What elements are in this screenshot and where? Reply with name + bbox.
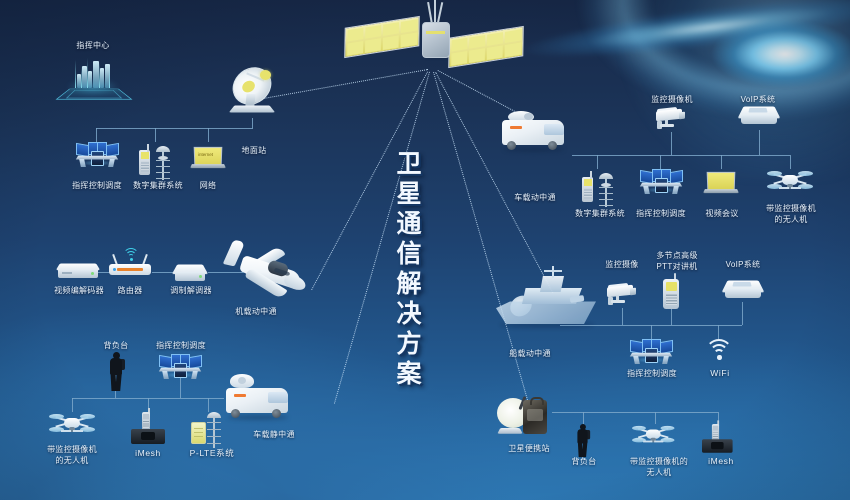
laptop-internet-icon: internet — [191, 147, 225, 172]
item-label: 监控摄像机 — [640, 94, 704, 105]
item-label: 数字集群系统 — [565, 208, 635, 219]
command-console-icon — [159, 354, 201, 380]
command-center-icon — [62, 52, 124, 104]
command-center-label: 指挥中心 — [58, 40, 128, 51]
camera-drone-icon — [768, 169, 812, 195]
hub-label: 车载动中通 — [505, 192, 565, 203]
connector — [552, 412, 718, 413]
ground-station-icon — [228, 68, 280, 118]
item-label: 视频会议 — [694, 208, 750, 219]
connector — [155, 128, 156, 142]
video-codec-icon — [58, 262, 98, 282]
ptt-radio-icon — [663, 275, 679, 309]
title-char-3: 通 — [396, 210, 421, 237]
title-char-1: 卫 — [396, 150, 421, 177]
digital-trunking-icon — [582, 169, 616, 207]
connector — [208, 128, 209, 142]
camera-drone-icon — [50, 412, 94, 438]
hub-label: 船载动中通 — [500, 348, 560, 359]
title-char-6: 决 — [396, 300, 421, 327]
connector — [208, 272, 244, 273]
connector — [660, 155, 661, 169]
hub-label: 机载动中通 — [226, 306, 286, 317]
video-conference-laptop-icon — [704, 172, 738, 197]
voip-box-icon — [724, 278, 762, 304]
item-label: 背负台 — [94, 340, 138, 351]
item-label: 路由器 — [105, 285, 155, 296]
item-label: 指挥控制调度 — [146, 340, 216, 351]
item-label: P-LTE系统 — [181, 448, 243, 459]
satellite-icon — [340, 0, 530, 80]
ground-station-label: 地面站 — [224, 145, 284, 156]
page-title: 卫 星 通 信 解 决 方 案 — [386, 150, 432, 387]
connector — [96, 128, 253, 129]
laptop-screen-text: internet — [198, 152, 213, 157]
connector — [597, 155, 598, 169]
item-label: 指挥控制调度 — [626, 208, 696, 219]
connector — [742, 302, 743, 325]
connector — [655, 412, 656, 424]
naval-ship-icon — [496, 270, 604, 332]
business-jet-icon — [222, 238, 318, 312]
command-console-icon — [640, 169, 682, 195]
item-label: 指挥控制调度 — [617, 368, 687, 379]
connector — [718, 325, 719, 339]
item-label: 网络 — [183, 180, 233, 191]
title-char-5: 解 — [396, 270, 421, 297]
connector — [721, 155, 722, 169]
modem-icon — [173, 262, 207, 286]
connector — [790, 155, 791, 169]
solar-panel-right — [448, 26, 524, 68]
command-console-icon — [630, 339, 672, 365]
item-label: 背负台 — [562, 456, 606, 467]
communication-van-icon — [498, 110, 572, 156]
digital-trunking-icon — [139, 142, 173, 180]
surveillance-camera-icon — [654, 108, 688, 132]
satellite-body — [422, 22, 450, 58]
imesh-device-icon — [702, 424, 736, 458]
item-label: WiFi — [700, 368, 740, 379]
connector — [252, 118, 253, 128]
static-communication-van-icon — [222, 378, 296, 424]
title-char-4: 信 — [396, 240, 421, 267]
connector — [583, 412, 584, 424]
connector — [759, 130, 760, 155]
wifi-icon — [706, 339, 732, 361]
camera-drone-icon — [633, 424, 677, 450]
item-label: iMesh — [126, 448, 170, 459]
item-label: 多节点高级 PTT对讲机 — [641, 250, 713, 272]
item-label: 带监控摄像机的 无人机 — [620, 456, 698, 478]
item-label: 视频编解码器 — [44, 285, 114, 296]
connector — [651, 325, 652, 339]
connector — [572, 155, 790, 156]
connector — [96, 128, 97, 142]
surveillance-camera-icon — [605, 284, 639, 308]
connector — [671, 132, 672, 155]
backpack-person-icon — [106, 352, 126, 392]
connector — [72, 398, 73, 412]
title-char-8: 案 — [396, 360, 421, 387]
hub-label: 卫星便携站 — [496, 443, 562, 454]
item-label: 指挥控制调度 — [62, 180, 132, 191]
infographic-canvas: 卫 星 通 信 解 决 方 案 指挥中心 — [0, 0, 850, 500]
title-char-2: 星 — [396, 180, 421, 207]
hub-label: 车载静中通 — [244, 429, 304, 440]
item-label: 带监控摄像机 的无人机 — [36, 444, 108, 466]
connector — [622, 308, 623, 325]
command-console-icon — [76, 142, 118, 168]
voip-box-icon — [740, 104, 778, 130]
item-label: VoIP系统 — [727, 94, 789, 105]
item-label: VoIP系统 — [712, 259, 774, 270]
imesh-device-icon — [131, 412, 165, 446]
item-label: iMesh — [699, 456, 743, 467]
portable-satellite-station-icon — [497, 396, 555, 444]
item-label: 带监控摄像机 的无人机 — [755, 203, 827, 225]
wifi-router-icon — [107, 250, 153, 280]
plte-system-icon — [191, 410, 225, 450]
solar-panel-left — [344, 16, 420, 58]
item-label: 调制解调器 — [158, 285, 224, 296]
title-char-7: 方 — [396, 330, 421, 357]
